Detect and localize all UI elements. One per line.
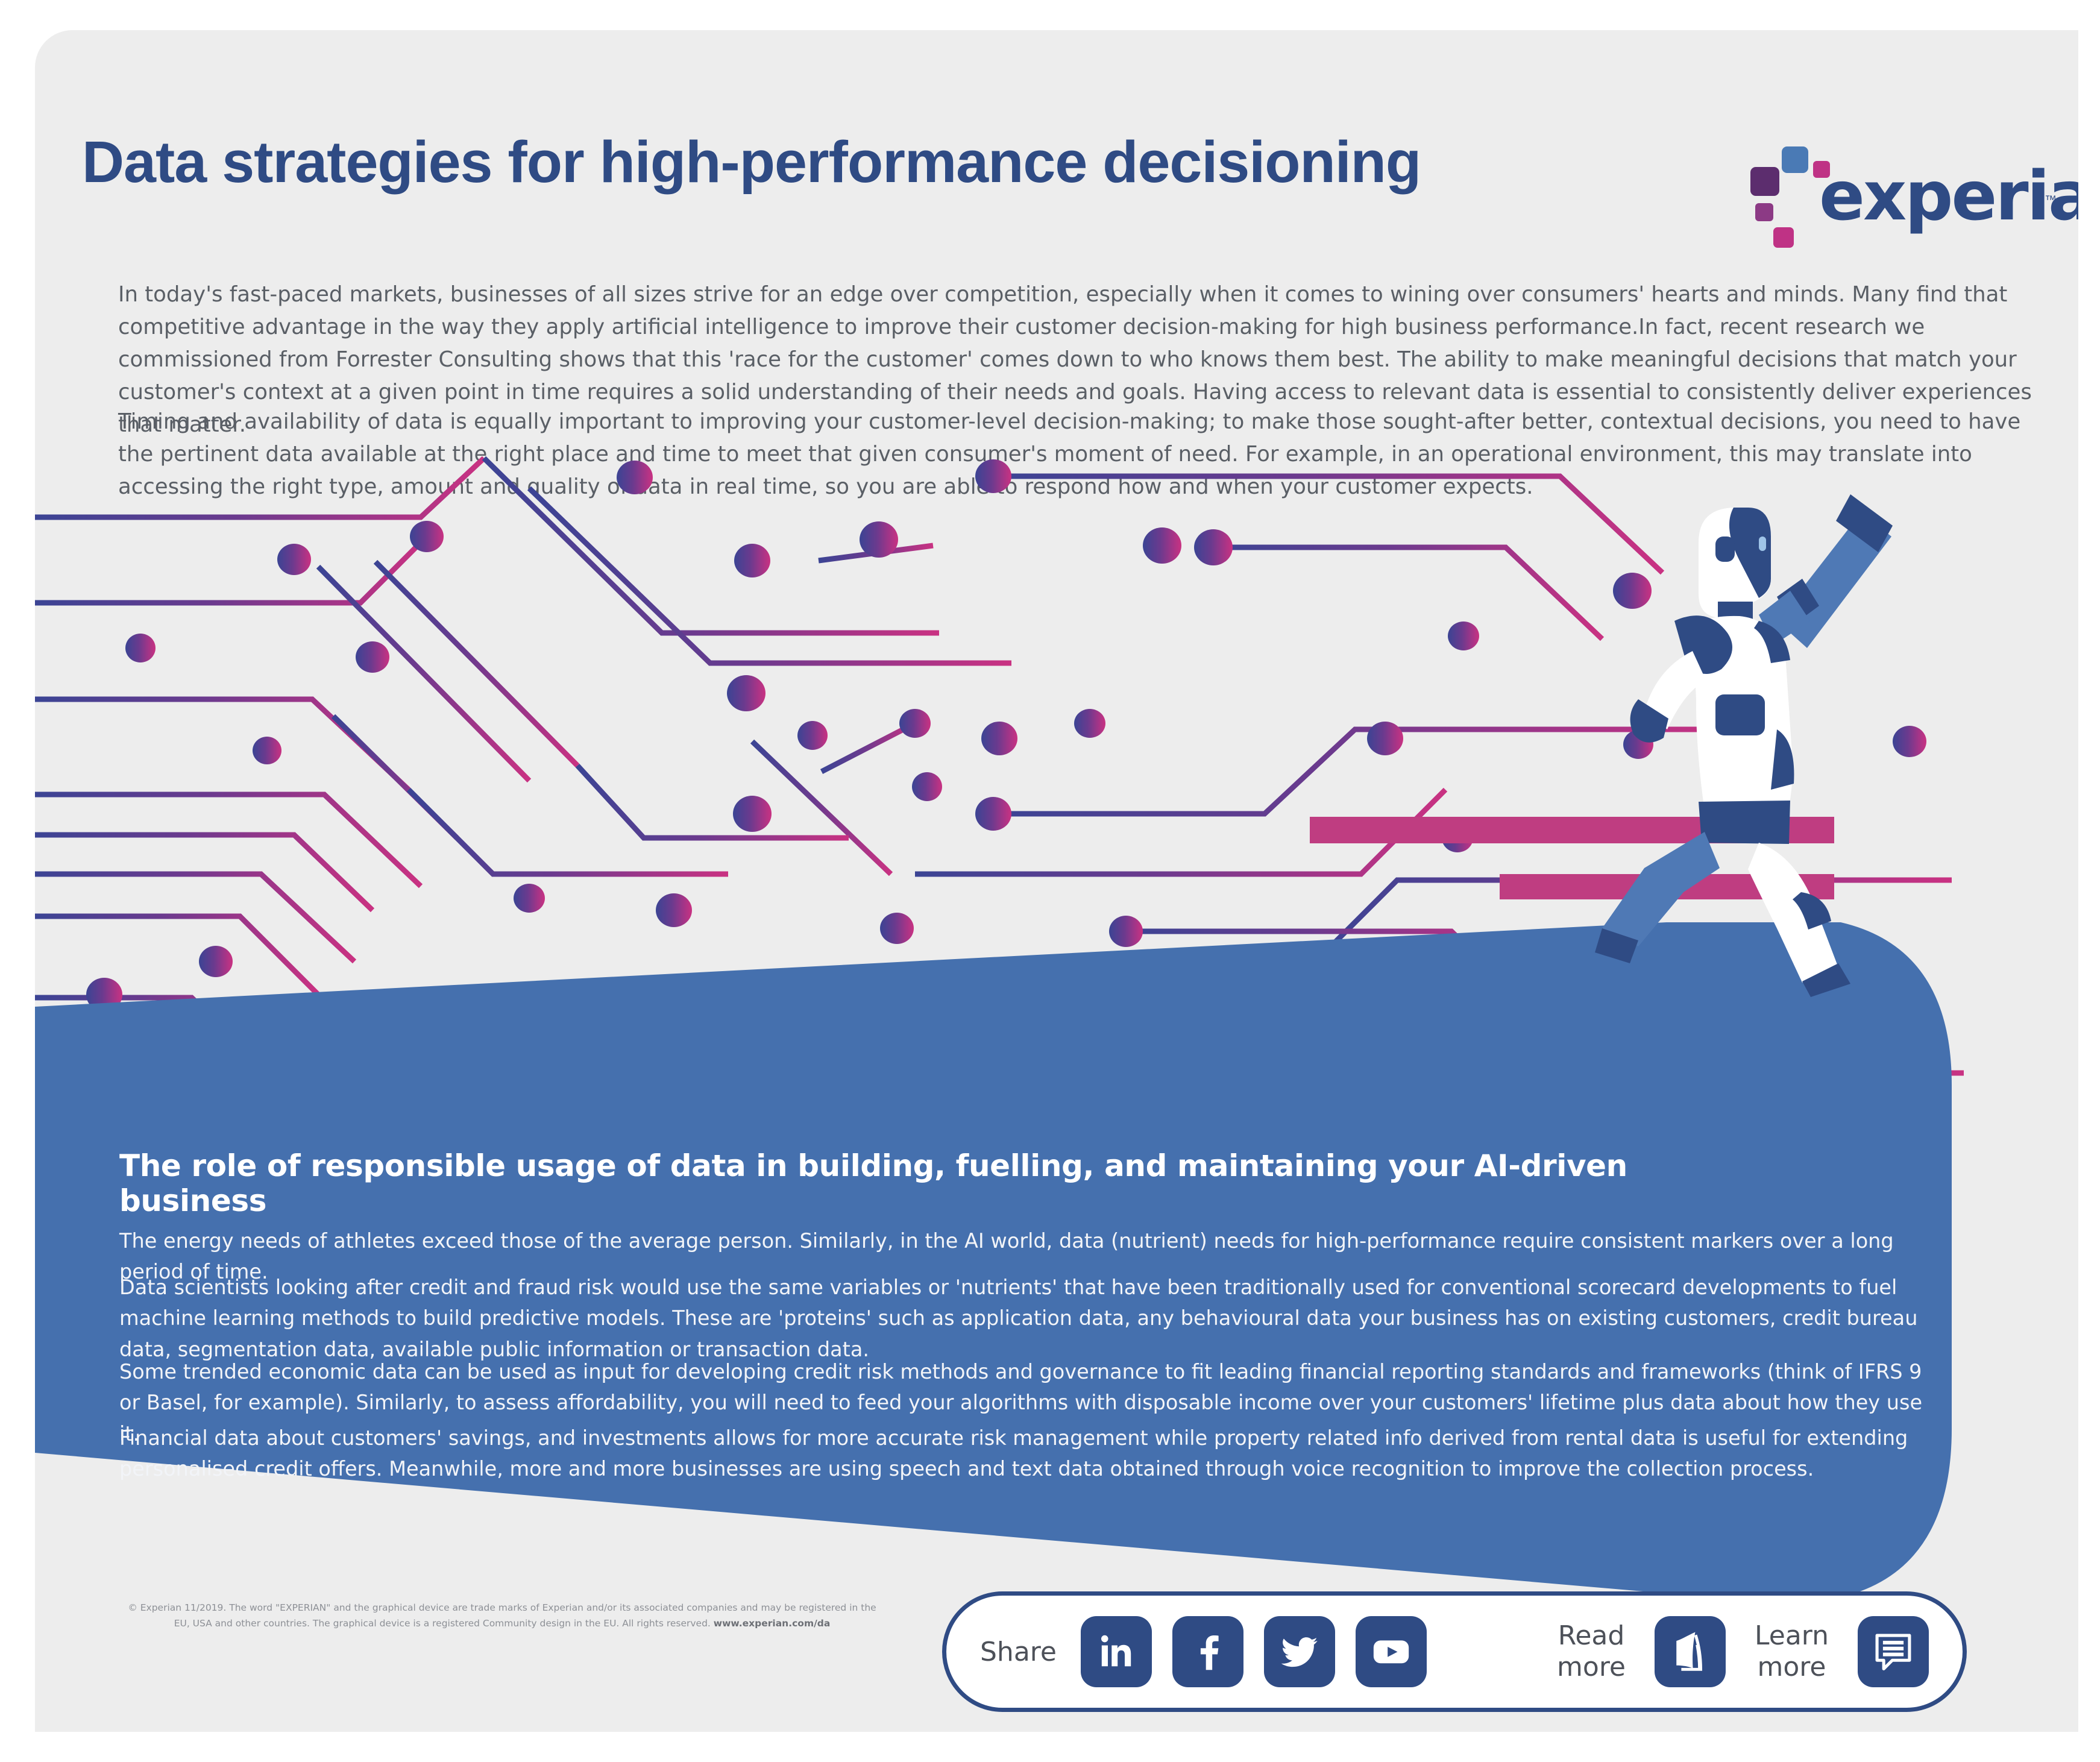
copyright-line-2: other countries. The graphical device is… — [236, 1618, 714, 1629]
page-title: Data strategies for high-performance dec… — [82, 131, 1709, 193]
read-more-label[interactable]: Read more — [1557, 1620, 1626, 1683]
learn-more-line-1: Learn — [1755, 1620, 1829, 1652]
logo-square-pink — [1773, 227, 1794, 248]
robot-athlete-illustration — [1578, 470, 1916, 1031]
facebook-icon[interactable] — [1172, 1616, 1243, 1687]
logo-square-blue — [1782, 146, 1808, 173]
youtube-icon[interactable] — [1356, 1616, 1427, 1687]
linkedin-icon[interactable] — [1081, 1616, 1152, 1687]
learn-more-line-2: more — [1755, 1652, 1829, 1683]
infographic-card: Data strategies for high-performance dec… — [35, 30, 2078, 1732]
logo-square-violet — [1755, 203, 1773, 221]
chat-bubble-icon[interactable] — [1858, 1616, 1929, 1687]
experian-logo: experian ™ — [1747, 136, 2060, 250]
twitter-icon[interactable] — [1264, 1616, 1335, 1687]
section-heading: The role of responsible usage of data in… — [119, 1148, 1783, 1218]
document-pages-icon[interactable] — [1655, 1616, 1726, 1687]
learn-more-label[interactable]: Learn more — [1755, 1620, 1829, 1683]
logo-wordmark: experian — [1819, 157, 2078, 236]
share-label: Share — [980, 1637, 1057, 1667]
read-more-line-2: more — [1557, 1652, 1626, 1683]
read-more-line-1: Read — [1557, 1620, 1626, 1652]
logo-square-purple — [1750, 167, 1779, 196]
copyright-notice: © Experian 11/2019. The word "EXPERIAN" … — [125, 1600, 879, 1631]
logo-trademark: ™ — [2045, 194, 2057, 207]
section-paragraph-4: Financial data about customers' savings,… — [119, 1423, 1928, 1485]
copyright-url: www.experian.com/da — [714, 1618, 831, 1629]
share-bar: Share Read mo — [942, 1591, 1967, 1712]
section-paragraph-2: Data scientists looking after credit and… — [119, 1272, 1928, 1365]
